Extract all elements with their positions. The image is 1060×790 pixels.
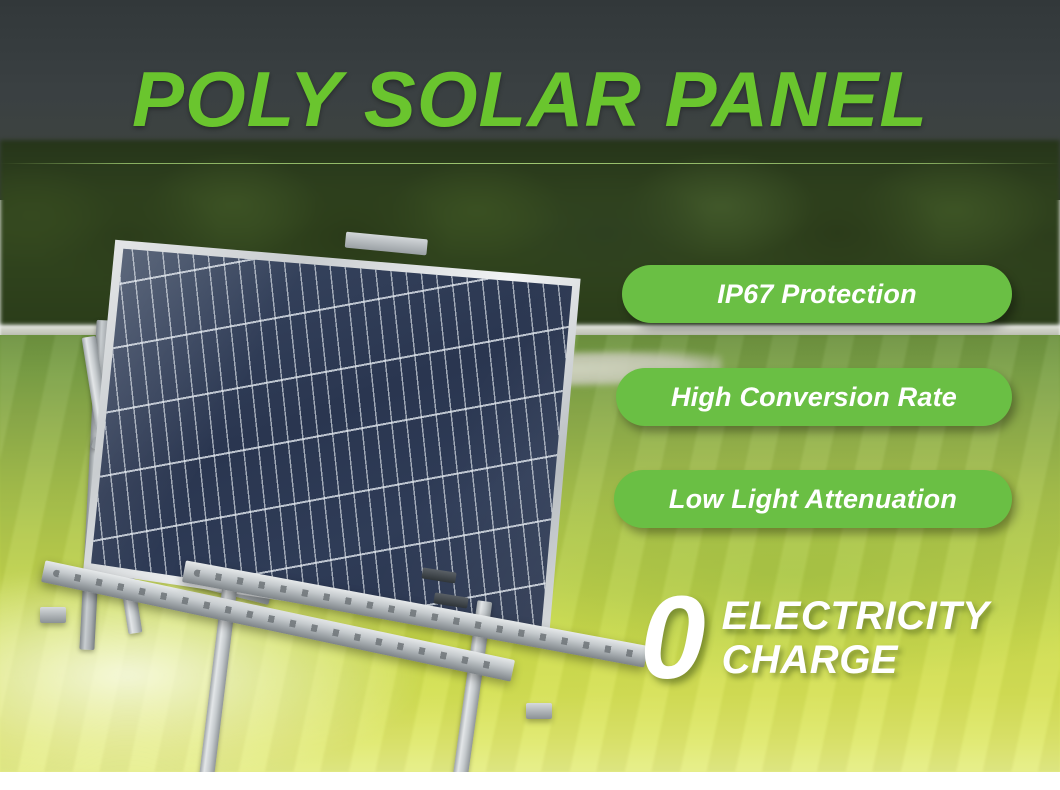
panel-top-clamp [345, 232, 428, 256]
zero-charge-label: ELECTRICITY CHARGE [722, 594, 990, 682]
zero-charge-line1: ELECTRICITY [722, 594, 990, 638]
feature-pill-light-attenuation[interactable]: Low Light Attenuation [614, 470, 1012, 528]
feature-pill-conversion-rate[interactable]: High Conversion Rate [616, 368, 1012, 426]
page-title: POLY SOLAR PANEL [0, 57, 1060, 141]
feature-pill-ip67[interactable]: IP67 Protection [622, 265, 1012, 323]
zero-value: 0 [640, 588, 706, 688]
solar-panel-assembly [30, 215, 590, 695]
zero-charge-line2: CHARGE [722, 638, 990, 682]
rail-end-cap-right [526, 703, 552, 719]
bottom-white-strip [0, 772, 1060, 790]
rail-end-cap-left [40, 607, 66, 623]
zero-charge-highlight: 0 ELECTRICITY CHARGE [640, 580, 1040, 695]
promo-banner: POLY SOLAR PANEL IP67 Protection High Co… [0, 0, 1060, 790]
horizon-hairline [0, 163, 1060, 164]
